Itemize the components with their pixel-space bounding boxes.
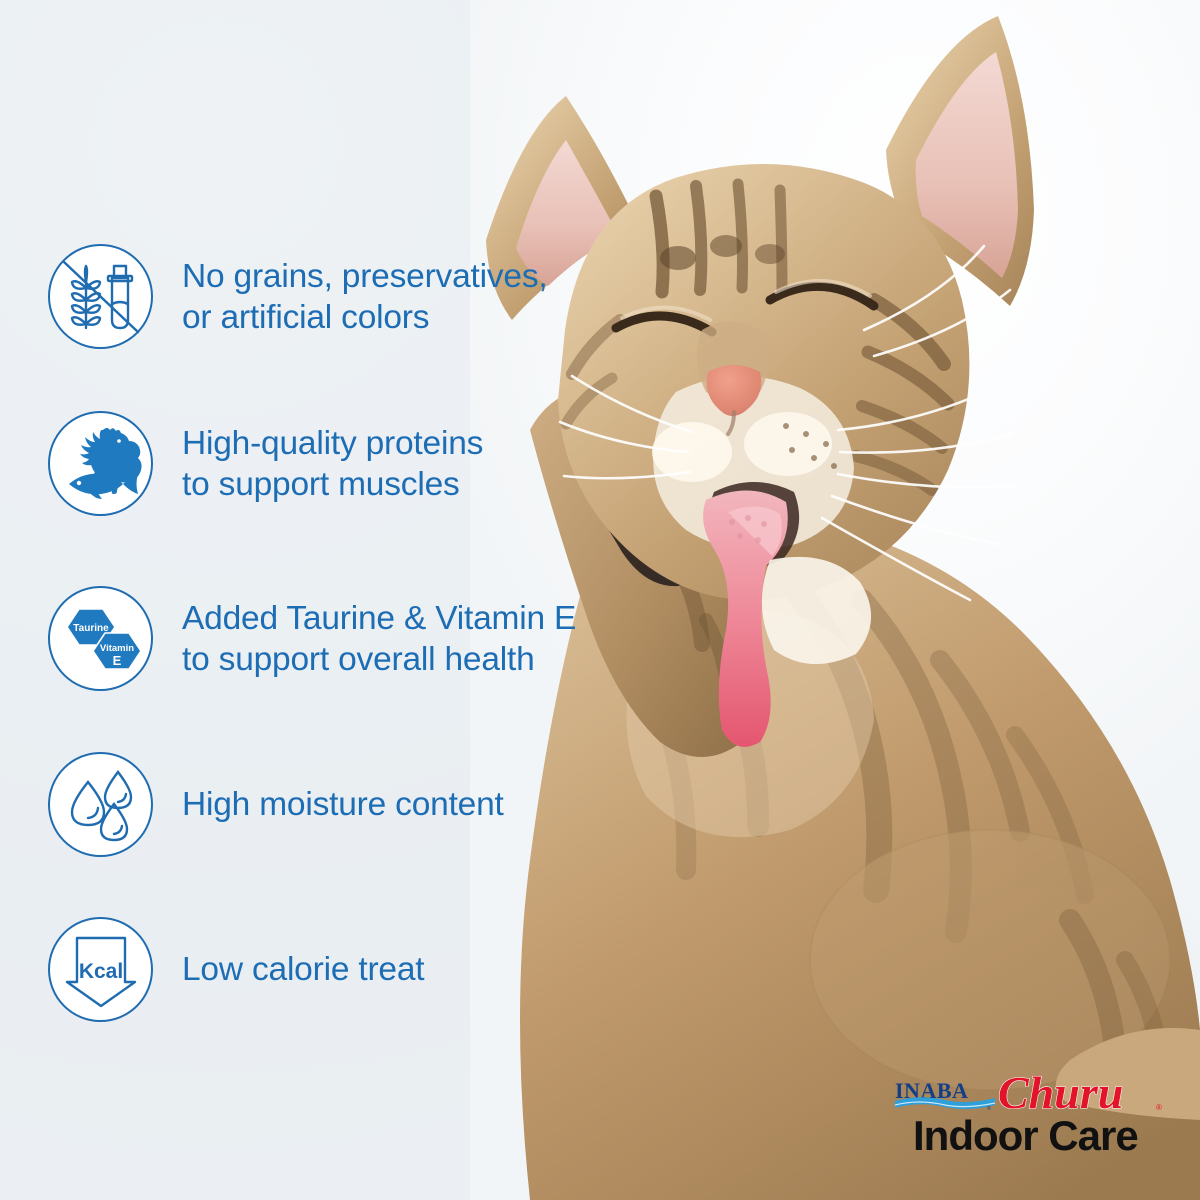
feature-line-2: to support muscles xyxy=(182,464,483,505)
taurine-vitamin-e-icon: Taurine Vitamin E xyxy=(48,586,153,691)
hex-label-taurine: Taurine xyxy=(73,623,109,634)
feature-text-no-grains: No grains, preservatives, or artificial … xyxy=(182,256,548,338)
feature-item-proteins: High-quality proteins to support muscles xyxy=(48,411,483,516)
feature-item-moisture: High moisture content xyxy=(48,752,504,857)
feature-line-1: No grains, preservatives, xyxy=(182,258,548,295)
feature-text-taurine: Added Taurine & Vitamin E to support ove… xyxy=(182,598,576,680)
feature-line-1: High-quality proteins xyxy=(182,425,483,462)
promo-banner: No grains, preservatives, or artificial … xyxy=(0,0,1200,1200)
feature-item-no-grains: No grains, preservatives, or artificial … xyxy=(48,244,548,349)
kcal-down-arrow-icon: Kcal xyxy=(48,917,153,1022)
feature-list: No grains, preservatives, or artificial … xyxy=(0,0,700,1200)
feature-item-taurine: Taurine Vitamin E Added Taurine & Vitami… xyxy=(48,586,576,691)
inaba-logo: INABA ® xyxy=(893,1076,999,1112)
feature-line-1: Added Taurine & Vitamin E xyxy=(182,600,576,637)
kcal-label: Kcal xyxy=(78,960,122,983)
chicken-and-fish-icon xyxy=(48,411,153,516)
feature-item-low-calorie: Kcal Low calorie treat xyxy=(48,917,424,1022)
feature-line-1: Low calorie treat xyxy=(182,951,424,988)
feature-text-low-calorie: Low calorie treat xyxy=(182,949,424,990)
feature-line-2: or artificial colors xyxy=(182,297,548,338)
hex-label-e: E xyxy=(112,653,121,668)
feature-line-2: to support overall health xyxy=(182,639,576,680)
indoor-care-text: Indoor Care xyxy=(913,1112,1138,1159)
feature-text-proteins: High-quality proteins to support muscles xyxy=(182,423,483,505)
brand-logo: INABA ® Churu ® Indoor Care xyxy=(893,1072,1189,1164)
feature-line-1: High moisture content xyxy=(182,786,504,823)
feature-text-moisture: High moisture content xyxy=(182,784,504,825)
no-grain-no-additives-icon xyxy=(48,244,153,349)
indoor-care-label: Indoor Care xyxy=(913,1110,1189,1162)
water-droplets-icon xyxy=(48,752,153,857)
